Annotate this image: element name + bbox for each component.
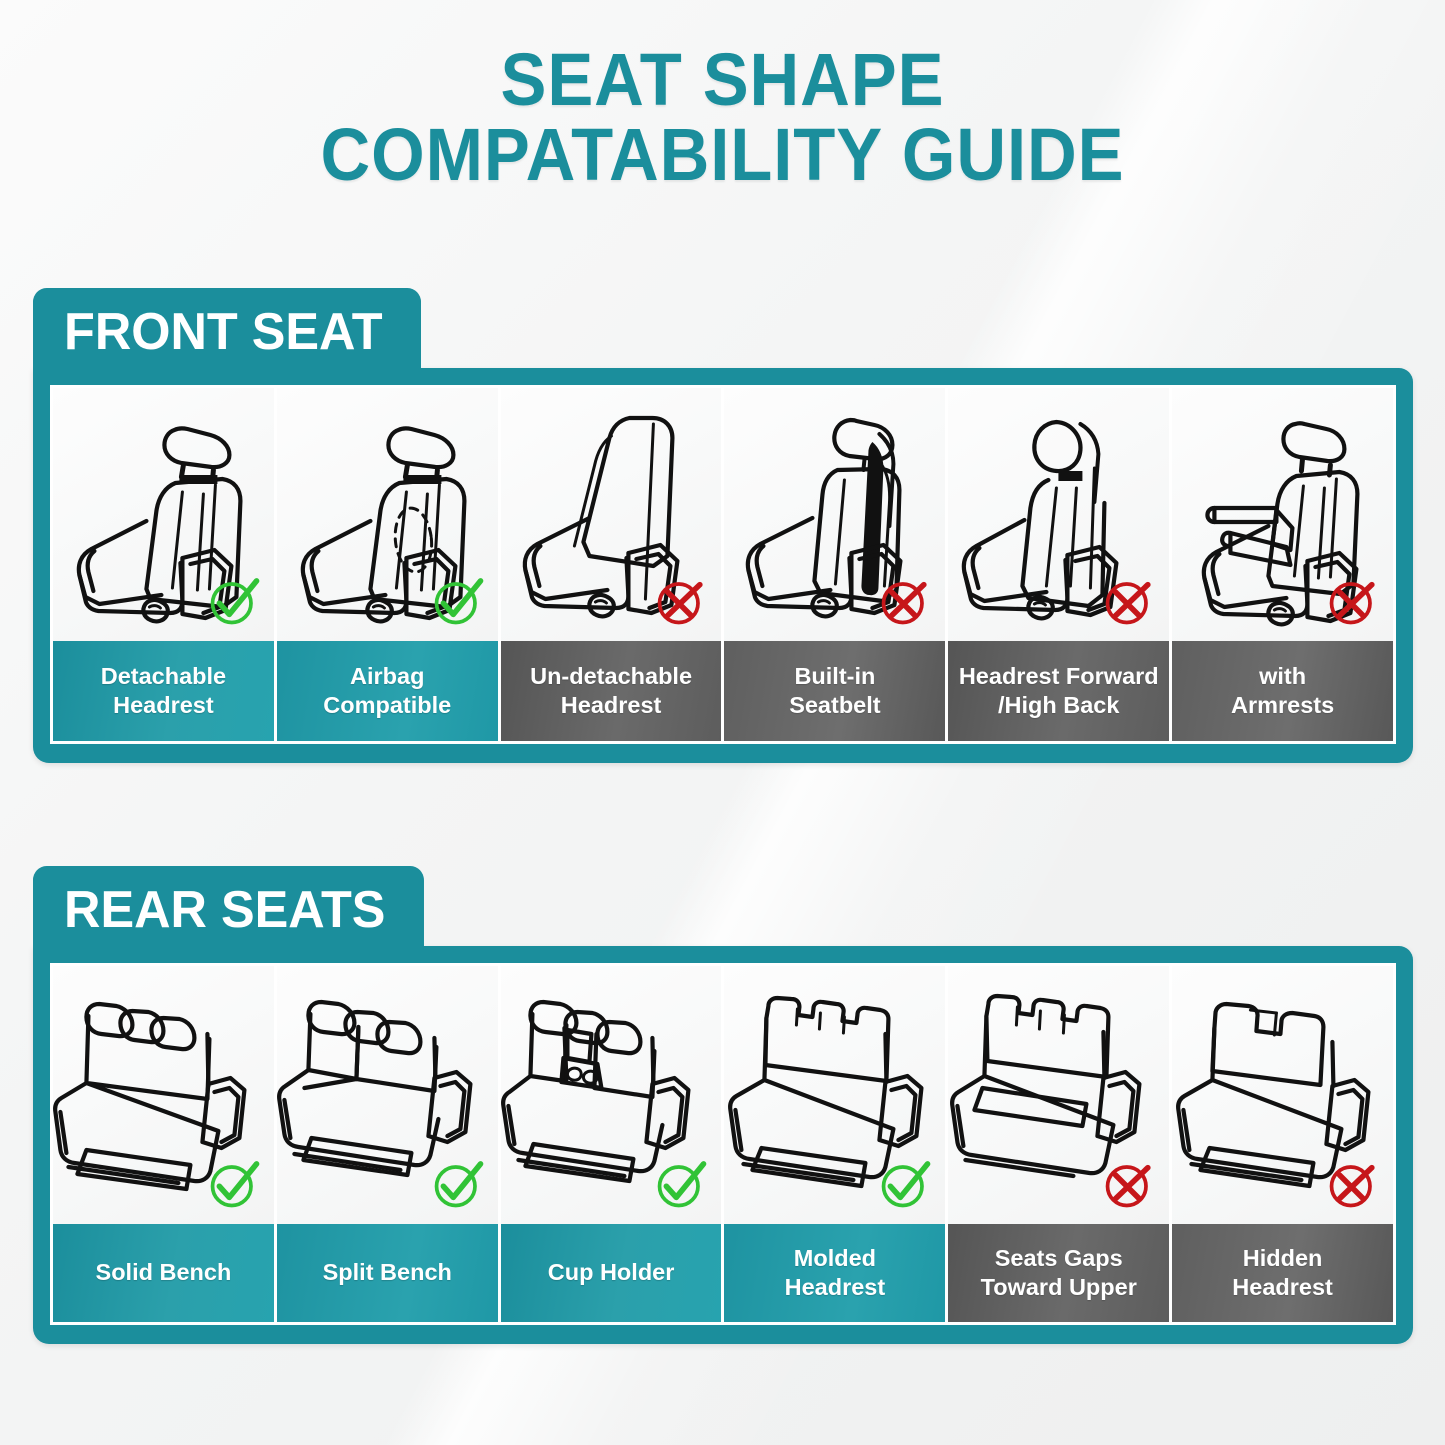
label-line-1: Un-detachable xyxy=(530,662,692,691)
front-seat-label-built-in-seatbelt: Built-in Seatbelt xyxy=(724,641,945,741)
check-badge-icon xyxy=(202,571,264,633)
label-line-1: Built-in xyxy=(789,662,880,691)
seat-detachable-headrest-illustration xyxy=(53,388,274,641)
front-seat-grid: Detachable Headrest xyxy=(53,388,1393,741)
label-line-2: Compatible xyxy=(323,691,451,720)
section-tab-front-seat: FRONT SEAT xyxy=(33,288,421,372)
status-badge xyxy=(1097,571,1159,633)
section-frame-inner: Detachable Headrest xyxy=(50,385,1396,744)
label-line-2: Headrest xyxy=(785,1273,886,1302)
rear-seats-grid: Solid Bench xyxy=(53,966,1393,1322)
rear-seats-label-cup-holder: Cup Holder xyxy=(501,1224,722,1322)
rear-seats-label-solid-bench: Solid Bench xyxy=(53,1224,274,1322)
bench-cup-holder-illustration xyxy=(501,966,722,1224)
seat-built-in-seatbelt-illustration xyxy=(724,388,945,641)
status-badge xyxy=(873,1154,935,1216)
rear-seats-label-molded-headrest: Molded Headrest xyxy=(724,1224,945,1322)
status-badge xyxy=(1321,1154,1383,1216)
rear-seats-cell-split-bench[interactable]: Split Bench xyxy=(277,966,498,1322)
infographic-root: SEAT SHAPE COMPATABILITY GUIDE FRONT SEA… xyxy=(0,0,1445,1445)
cross-badge-icon xyxy=(1097,1154,1159,1216)
front-seat-cell-undetachable-headrest[interactable]: Un-detachable Headrest xyxy=(501,388,722,741)
status-badge xyxy=(1321,571,1383,633)
status-badge xyxy=(202,1154,264,1216)
rear-seats-cell-solid-bench[interactable]: Solid Bench xyxy=(53,966,274,1322)
rear-seats-label-hidden-headrest: Hidden Headrest xyxy=(1172,1224,1393,1322)
front-seat-cell-headrest-forward-high-back[interactable]: Headrest Forward /High Back xyxy=(948,388,1169,741)
section-front-seat: FRONT SEAT xyxy=(33,288,1413,763)
rear-seats-cell-molded-headrest[interactable]: Molded Headrest xyxy=(724,966,945,1322)
cross-badge-icon xyxy=(1097,571,1159,633)
label-line-1: Hidden xyxy=(1232,1244,1333,1273)
page-title-line-2: COMPATABILITY GUIDE xyxy=(51,117,1395,192)
section-tab-label: REAR SEATS xyxy=(64,880,385,940)
bench-hidden-headrest-illustration xyxy=(1172,966,1393,1224)
label-line-1: Seats Gaps xyxy=(981,1244,1137,1273)
rear-seats-cell-hidden-headrest[interactable]: Hidden Headrest xyxy=(1172,966,1393,1322)
label-line-2: /High Back xyxy=(959,691,1159,720)
section-frame-front-seat: Detachable Headrest xyxy=(33,368,1413,763)
bench-molded-headrest-illustration xyxy=(724,966,945,1224)
check-badge-icon xyxy=(873,1154,935,1216)
status-badge xyxy=(873,571,935,633)
status-badge xyxy=(202,571,264,633)
rear-seats-label-split-bench: Split Bench xyxy=(277,1224,498,1322)
section-rear-seats: REAR SEATS xyxy=(33,866,1413,1344)
rear-seats-cell-seat-gaps-toward-upper[interactable]: Seats Gaps Toward Upper xyxy=(948,966,1169,1322)
check-badge-icon xyxy=(426,571,488,633)
bench-seat-gaps-toward-upper-illustration xyxy=(948,966,1169,1224)
label-line-1: Molded xyxy=(785,1244,886,1273)
section-tab-rear-seats: REAR SEATS xyxy=(33,866,424,950)
status-badge xyxy=(426,1154,488,1216)
label-line-1: with xyxy=(1231,662,1334,691)
bench-split-illustration xyxy=(277,966,498,1224)
front-seat-label-detachable-headrest: Detachable Headrest xyxy=(53,641,274,741)
front-seat-cell-built-in-seatbelt[interactable]: Built-in Seatbelt xyxy=(724,388,945,741)
cross-badge-icon xyxy=(1321,571,1383,633)
page-title-line-1: SEAT SHAPE xyxy=(501,38,945,121)
seat-headrest-forward-high-back-illustration xyxy=(948,388,1169,641)
status-badge xyxy=(649,571,711,633)
page-title: SEAT SHAPE COMPATABILITY GUIDE xyxy=(51,42,1395,193)
check-badge-icon xyxy=(426,1154,488,1216)
section-frame-inner: Solid Bench xyxy=(50,963,1396,1325)
label-line-2: Toward Upper xyxy=(981,1273,1137,1302)
seat-with-armrests-illustration xyxy=(1172,388,1393,641)
label-line-1: Airbag xyxy=(323,662,451,691)
label-line-2: Headrest xyxy=(101,691,226,720)
front-seat-label-with-armrests: with Armrests xyxy=(1172,641,1393,741)
check-badge-icon xyxy=(649,1154,711,1216)
label-line-2: Headrest xyxy=(530,691,692,720)
seat-airbag-compatible-illustration xyxy=(277,388,498,641)
label-line-1: Detachable xyxy=(101,662,226,691)
bench-solid-illustration xyxy=(53,966,274,1224)
label-line-1: Headrest Forward xyxy=(959,662,1159,691)
check-badge-icon xyxy=(202,1154,264,1216)
rear-seats-label-seat-gaps-toward-upper: Seats Gaps Toward Upper xyxy=(948,1224,1169,1322)
label-line-2: Headrest xyxy=(1232,1273,1333,1302)
front-seat-label-undetachable-headrest: Un-detachable Headrest xyxy=(501,641,722,741)
front-seat-label-airbag-compatible: Airbag Compatible xyxy=(277,641,498,741)
status-badge xyxy=(649,1154,711,1216)
section-frame-rear-seats: Solid Bench xyxy=(33,946,1413,1344)
seat-undetachable-headrest-illustration xyxy=(501,388,722,641)
label-line-1: Split Bench xyxy=(323,1258,452,1287)
label-line-1: Solid Bench xyxy=(96,1258,232,1287)
front-seat-cell-airbag-compatible[interactable]: Airbag Compatible xyxy=(277,388,498,741)
status-badge xyxy=(426,571,488,633)
status-badge xyxy=(1097,1154,1159,1216)
cross-badge-icon xyxy=(649,571,711,633)
front-seat-label-headrest-forward-high-back: Headrest Forward /High Back xyxy=(948,641,1169,741)
label-line-2: Seatbelt xyxy=(789,691,880,720)
cross-badge-icon xyxy=(873,571,935,633)
rear-seats-cell-cup-holder[interactable]: Cup Holder xyxy=(501,966,722,1322)
label-line-1: Cup Holder xyxy=(548,1258,675,1287)
label-line-2: Armrests xyxy=(1231,691,1334,720)
cross-badge-icon xyxy=(1321,1154,1383,1216)
front-seat-cell-detachable-headrest[interactable]: Detachable Headrest xyxy=(53,388,274,741)
section-tab-label: FRONT SEAT xyxy=(64,302,383,362)
front-seat-cell-with-armrests[interactable]: with Armrests xyxy=(1172,388,1393,741)
